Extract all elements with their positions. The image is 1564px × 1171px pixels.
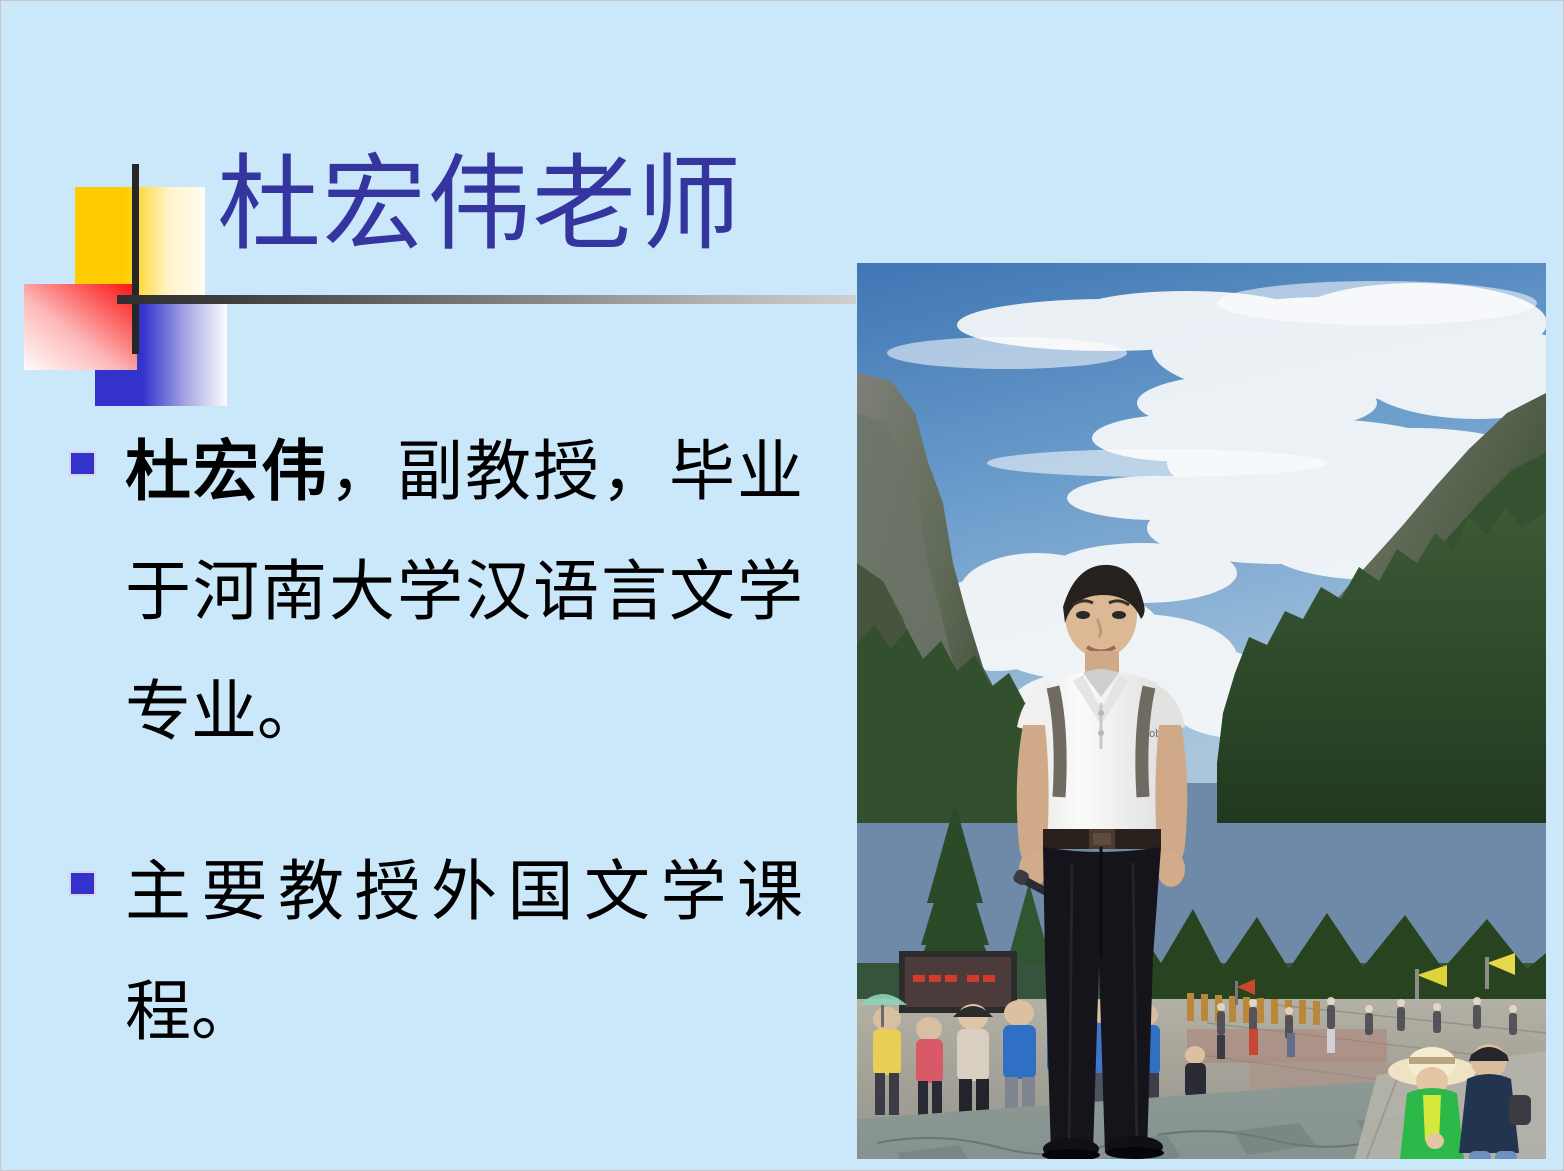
bullet-text: 主要教授外国文学课程。 (125, 833, 803, 1073)
photo-graphic: noble (857, 263, 1546, 1159)
bullet-square-icon (69, 451, 96, 476)
vertical-rule (132, 164, 139, 354)
body-content: 杜宏伟，副教授，毕业于河南大学汉语言文学专业。 主要教授外国文学课程。 (63, 413, 803, 1134)
list-item: 主要教授外国文学课程。 (63, 833, 803, 1073)
yellow-gradient-square (75, 187, 205, 298)
bullet-emphasis: 杜宏伟 (125, 436, 329, 509)
teacher-photo: noble (857, 263, 1546, 1159)
horizontal-rule (117, 295, 856, 304)
page-title: 杜宏伟老师 (217, 149, 742, 263)
slide: 杜宏伟老师 杜宏伟，副教授，毕业于河南大学汉语言文学专业。 主要教授外国文学课程… (0, 0, 1564, 1171)
list-item: 杜宏伟，副教授，毕业于河南大学汉语言文学专业。 (63, 413, 803, 773)
bullet-rest: 主要教授外国文学课程。 (125, 856, 803, 1049)
bullet-text: 杜宏伟，副教授，毕业于河南大学汉语言文学专业。 (125, 413, 803, 773)
bullet-square-icon (69, 871, 96, 896)
